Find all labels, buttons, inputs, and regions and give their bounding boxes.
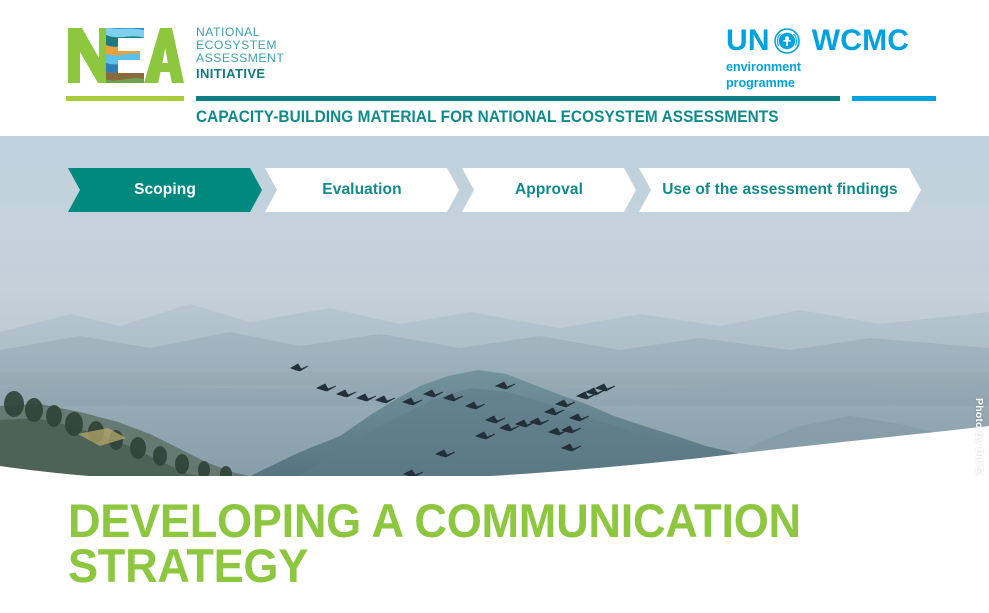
page-title: DEVELOPING A COMMUNICATION STRATEGY (68, 498, 894, 588)
header-subtitle: CAPACITY-BUILDING MATERIAL FOR NATIONAL … (196, 108, 779, 127)
logo-word-assessment: ASSESSMENT (196, 52, 284, 65)
step-evaluation[interactable]: Evaluation (265, 168, 459, 212)
unep-subtitle-environment: environment (726, 60, 936, 74)
page-title-line-2: STRATEGY (68, 543, 894, 588)
step-use-of-findings-label: Use of the assessment findings (662, 181, 898, 199)
header-rule-teal (196, 96, 840, 101)
un-globe-laurel-icon (774, 28, 800, 54)
step-approval[interactable]: Approval (462, 168, 636, 212)
step-use-of-the-assessment-findings[interactable]: Use of the assessment findings (639, 168, 921, 212)
unep-logo-top-row: UN WCMC (726, 24, 936, 58)
header-rule-green (66, 96, 184, 101)
logo-word-initiative: INITIATIVE (196, 67, 284, 80)
step-approval-label: Approval (515, 181, 583, 199)
step-scoping-label: Scoping (134, 181, 196, 199)
unep-un-text: UN (726, 26, 770, 56)
unep-subtitle-programme: programme (726, 76, 936, 90)
unep-wcmc-text: WCMC (812, 26, 909, 56)
process-step-nav: Scoping Evaluation Approval Use of the a… (0, 168, 989, 212)
page-title-line-1: DEVELOPING A COMMUNICATION (68, 498, 894, 543)
page-root: NATIONAL ECOSYSTEM ASSESSMENT INITIATIVE… (0, 0, 989, 613)
nea-logo-wordmark: NATIONAL ECOSYSTEM ASSESSMENT INITIATIVE (196, 26, 284, 80)
unep-wcmc-logo: UN WCMC environmen (726, 24, 936, 90)
step-evaluation-label: Evaluation (322, 181, 401, 199)
step-scoping[interactable]: Scoping (68, 168, 262, 212)
document-header: NATIONAL ECOSYSTEM ASSESSMENT INITIATIVE… (0, 0, 989, 136)
header-rule-cyan (852, 96, 936, 101)
nea-logo-mark (66, 22, 184, 88)
photo-credit: Photo by DICSON on Unsplash (973, 398, 985, 476)
